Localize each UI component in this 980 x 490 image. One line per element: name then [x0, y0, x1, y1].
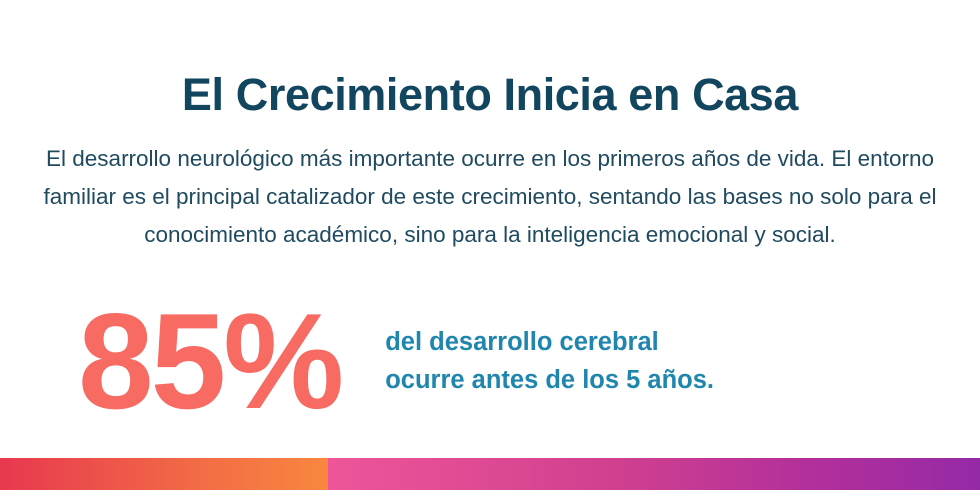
statistic-caption-line-1: del desarrollo cerebral — [385, 323, 714, 361]
statistic-figure: 85% — [78, 296, 341, 426]
accent-bar-warm-segment — [0, 458, 328, 490]
statistic-caption-line-2: ocurre antes de los 5 años. — [385, 361, 714, 399]
statistic-block: 85% del desarrollo cerebral ocurre antes… — [0, 296, 980, 426]
statistic-caption: del desarrollo cerebral ocurre antes de … — [385, 323, 714, 399]
slide-canvas: El Crecimiento Inicia en Casa El desarro… — [0, 0, 980, 490]
accent-bar-cool-segment — [328, 458, 980, 490]
page-title: El Crecimiento Inicia en Casa — [0, 68, 980, 122]
intro-paragraph: El desarrollo neurológico más importante… — [40, 140, 940, 254]
accent-gradient-bar — [0, 458, 980, 490]
